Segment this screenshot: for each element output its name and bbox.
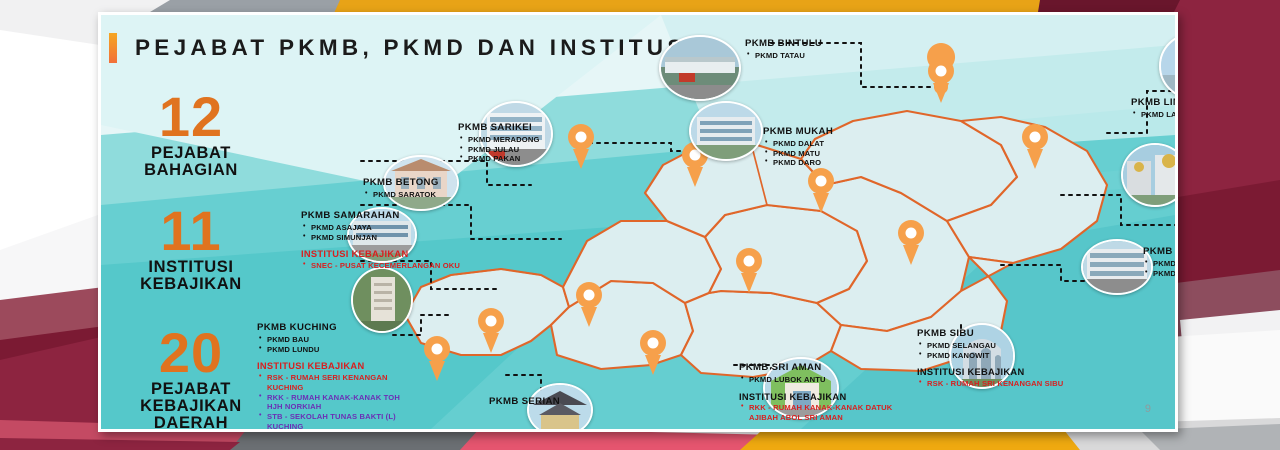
district-item: PKMD LUBOK ANTU [749,375,907,385]
stat-caption: PEJABAT BAHAGIAN [111,145,271,180]
institution-item: RKK - RUMAH KANAK-KANAK TOH HJH NORKIAH [267,393,417,413]
district-item: PKMD MATU [773,149,833,159]
district-list: PKMD SELANGAU PKMD KANOWIT [917,341,1067,361]
office-name: PKMB SARIKEI [458,123,540,134]
stat-number: 20 [111,327,271,379]
district-item: PKMD DARO [773,158,833,168]
label-mukah: PKMB MUKAH PKMD DALAT PKMD MATU PKMD DAR… [763,127,833,168]
district-item: PKMD SONG [1153,259,1178,269]
institution-item: RKK - RUMAH KANAK-KANAK DATUK AJIBAH ABO… [749,403,907,423]
institution-list: SNEC - PUSAT KECEMERLANGAN OKU [301,261,460,271]
district-item: PKMD SARATOK [373,190,439,200]
stat-number: 12 [111,91,271,143]
office-name: PKMB SIBU [917,329,1067,340]
district-list: PKMD LAWAS [1131,110,1178,120]
label-kapit: PKMB KAPIT PKMD SONG PKMD BELAGA [1143,247,1178,278]
institution-header: INSTITUSI KEBAJIKAN [917,367,1067,377]
map-pin [424,336,450,381]
office-name: PKMB BETONG [363,178,439,189]
label-sarikei: PKMB SARIKEI PKMD MERADONG PKMD JULAU PK… [458,123,540,164]
office-name: PKMB MUKAH [763,127,833,138]
district-item: PKMD ASAJAYA [311,223,460,233]
district-list: PKMD MERADONG PKMD JULAU PKMD PAKAN [458,135,540,165]
label-bintulu: PKMB BINTULU PKMD TATAU [745,39,822,61]
district-list: PKMD DALAT PKMD MATU PKMD DARO [763,139,833,169]
district-item: PKMD LUNDU [267,345,417,355]
institution-item: RSK - RUMAH SRI KENANGAN SIBU [927,379,1067,389]
title-accent-bar [109,33,117,63]
map-pin [568,124,594,169]
office-name: PKMB SRI AMAN [739,363,907,374]
institution-item: SNEC - PUSAT KECEMERLANGAN OKU [311,261,460,271]
label-kuching: PKMB KUCHING PKMD BAU PKMD LUNDU INSTITU… [257,323,417,432]
slide-canvas: PEJABAT PKMB, PKMD DAN INSTITUSI 12 PEJA… [98,12,1178,432]
photo-mukah [689,101,763,161]
district-item: PKMD BELAGA [1153,269,1178,279]
institution-item: RSK - RUMAH SERI KENANGAN KUCHING [267,373,417,393]
institution-list: RSK - RUMAH SERI KENANGAN KUCHING RKK - … [257,373,417,432]
institution-list: RSK - RUMAH SRI KENANGAN SIBU [917,379,1067,389]
stat-caption: INSTITUSI KEBAJIKAN [111,259,271,294]
office-name: PKMB KAPIT [1143,247,1178,258]
district-list: PKMD SONG PKMD BELAGA [1143,259,1178,279]
label-betong: PKMB BETONG PKMD SARATOK [363,178,439,200]
office-name: PKMB SERIAN [489,397,560,408]
district-item: PKMD DALAT [773,139,833,149]
institution-item: STB - SEKOLAH TUNAS BAKTI (L) KUCHING [267,412,417,432]
label-limbang: PKMB LIMBANG PKMD LAWAS [1131,98,1178,120]
district-item: PKMD MERADONG [468,135,540,145]
label-sibu: PKMB SIBU PKMD SELANGAU PKMD KANOWIT INS… [917,329,1067,389]
stat-block-pejabat-kebajikan-daerah: 20 PEJABAT KEBAJIKAN DAERAH [111,327,271,432]
district-list: PKMD LUBOK ANTU [739,375,907,385]
label-serian: PKMB SERIAN [489,397,560,408]
office-name: PKMB SAMARAHAN [301,211,460,222]
institution-list: RKK - RUMAH KANAK-KANAK DATUK AJIBAH ABO… [739,403,907,423]
stat-block-pejabat-bahagian: 12 PEJABAT BAHAGIAN [111,91,271,179]
institution-header: INSTITUSI KEBAJIKAN [739,392,907,402]
office-name: PKMB LIMBANG [1131,98,1178,109]
office-name: PKMB BINTULU [745,39,822,50]
office-name: PKMB KUCHING [257,323,417,334]
district-list: PKMD TATAU [745,51,822,61]
page-number: 9 [1145,403,1151,415]
stat-caption: PEJABAT KEBAJIKAN DAERAH [111,381,271,432]
district-item: PKMD KANOWIT [927,351,1067,361]
stat-number: 11 [111,205,271,257]
district-item: PKMD SIMUNJAN [311,233,460,243]
label-sriaman: PKMB SRI AMAN PKMD LUBOK ANTU INSTITUSI … [739,363,907,423]
stat-block-institusi-kebajikan: 11 INSTITUSI KEBAJIKAN [111,205,271,293]
district-list: PKMD SARATOK [363,190,439,200]
district-item: PKMD JULAU [468,145,540,155]
district-item: PKMD PAKAN [468,154,540,164]
label-samarahan: PKMB SAMARAHAN PKMD ASAJAYA PKMD SIMUNJA… [301,211,460,271]
district-item: PKMD LAWAS [1141,110,1178,120]
district-item: PKMD BAU [267,335,417,345]
photo-bintulu [659,35,741,101]
district-item: PKMD SELANGAU [927,341,1067,351]
district-list: PKMD BAU PKMD LUNDU [257,335,417,355]
map-pin [927,43,955,103]
district-list: PKMD ASAJAYA PKMD SIMUNJAN [301,223,460,243]
district-item: PKMD TATAU [755,51,822,61]
institution-header: INSTITUSI KEBAJIKAN [257,361,417,371]
institution-header: INSTITUSI KEBAJIKAN [301,249,460,259]
